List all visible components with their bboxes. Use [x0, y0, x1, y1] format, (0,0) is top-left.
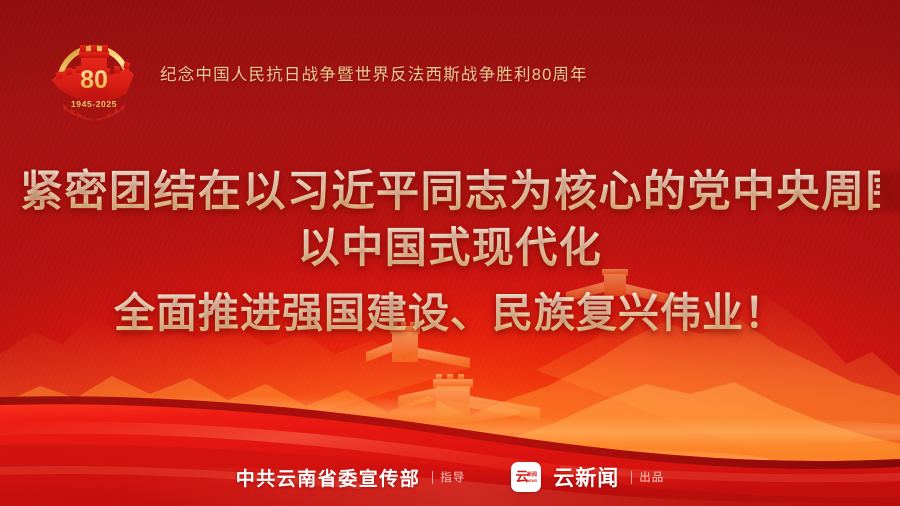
yun-news-logo-icon[interactable]: 云 新闻 NEWS — [511, 462, 541, 492]
anniversary-title: 纪念中国人民抗日战争暨世界反法西斯战争胜利80周年 — [160, 61, 588, 85]
poster-canvas: 80 1945-2025 纪念中国人民抗日战争暨世界反法西斯战争胜利80周年 紧… — [0, 0, 900, 506]
slogan-line-2: 以中国式现代化 — [20, 218, 880, 282]
footer-organization-role: 指导 — [432, 469, 465, 485]
footer-credits: 中共云南省委宣传部 指导 云 新闻 NEWS 云新闻 出品 — [0, 462, 900, 492]
emblem-number: 80 — [80, 66, 108, 94]
divider-bar — [631, 471, 632, 484]
slogan-line-3: 全面推进强国建设、民族复兴伟业！ — [20, 282, 880, 346]
slogan-block: 紧密团结在以习近平同志为核心的党中央周围 以中国式现代化 全面推进强国建设、民族… — [0, 168, 900, 345]
footer-organization: 中共云南省委宣传部 — [236, 464, 421, 491]
logo-sub-en: NEWS — [527, 479, 538, 483]
slogan-line-1: 紧密团结在以习近平同志为核心的党中央周围 — [20, 168, 880, 218]
logo-sub: 新闻 — [527, 471, 537, 478]
footer-brand: 云新闻 — [553, 462, 619, 492]
emblem-years: 1945-2025 — [71, 99, 117, 109]
divider-bar — [432, 471, 433, 484]
footer-brand-role: 出品 — [631, 469, 664, 485]
footer-organization-role-label: 指导 — [440, 469, 465, 485]
great-wall-anniversary-emblem-icon: 80 1945-2025 — [42, 24, 146, 122]
footer-brand-role-label: 出品 — [639, 469, 664, 485]
header: 80 1945-2025 纪念中国人民抗日战争暨世界反法西斯战争胜利80周年 — [42, 24, 588, 122]
